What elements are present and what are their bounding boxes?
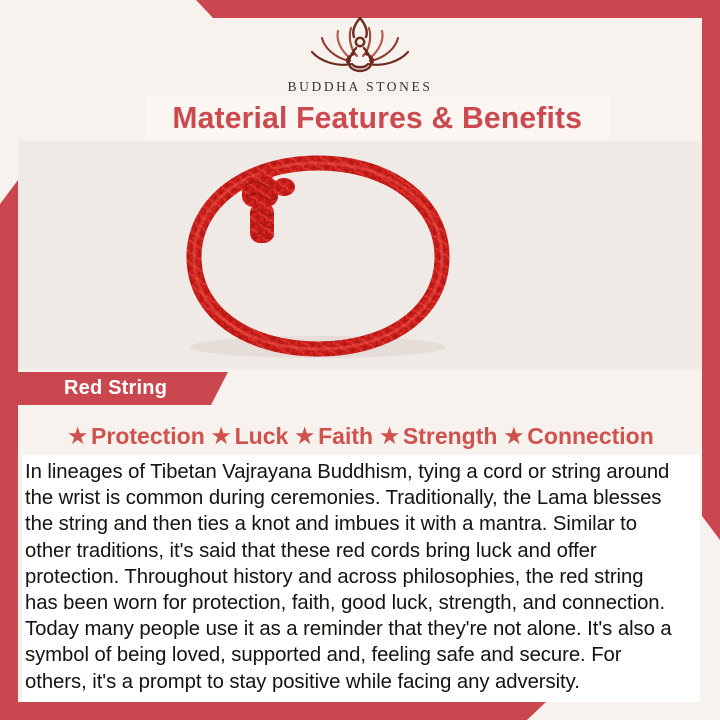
lotus-meditation-icon (304, 14, 416, 76)
infographic-page: BUDDHA STONES Material Features & Benefi… (0, 0, 720, 720)
keyword-label: Connection (527, 423, 654, 450)
description-block: In lineages of Tibetan Vajrayana Buddhis… (22, 455, 700, 702)
page-title: Material Features & Benefits (173, 100, 583, 136)
red-string-bracelet-illustration (18, 141, 702, 369)
frame-bottom-bar (0, 702, 720, 720)
description-text: In lineages of Tibetan Vajrayana Buddhis… (25, 459, 678, 695)
keyword-connection: ★ Connection (504, 423, 653, 450)
star-icon: ★ (68, 426, 87, 447)
keyword-label: Faith (318, 423, 373, 450)
adjustable-knot (242, 177, 278, 243)
benefit-keywords: ★ Protection ★ Luck ★ Faith ★ Strength ★… (22, 418, 700, 454)
product-image (18, 141, 702, 369)
title-band: Material Features & Benefits (145, 96, 610, 140)
red-string-label: Red String (64, 377, 167, 400)
brand-wordmark: BUDDHA STONES (0, 79, 720, 95)
keyword-label: Protection (91, 423, 205, 450)
star-icon: ★ (504, 426, 523, 447)
star-icon: ★ (212, 426, 231, 447)
keyword-protection: ★ Protection (68, 423, 205, 450)
keyword-label: Luck (235, 423, 289, 450)
keyword-luck: ★ Luck (212, 423, 289, 450)
keyword-faith: ★ Faith (295, 423, 373, 450)
star-icon: ★ (380, 426, 399, 447)
keyword-label: Strength (403, 423, 498, 450)
star-icon: ★ (295, 426, 314, 447)
keyword-strength: ★ Strength (380, 423, 497, 450)
red-string-label-ribbon: Red String (0, 372, 228, 405)
brand-logo: BUDDHA STONES (0, 14, 720, 95)
frame-left-bar (0, 180, 18, 702)
